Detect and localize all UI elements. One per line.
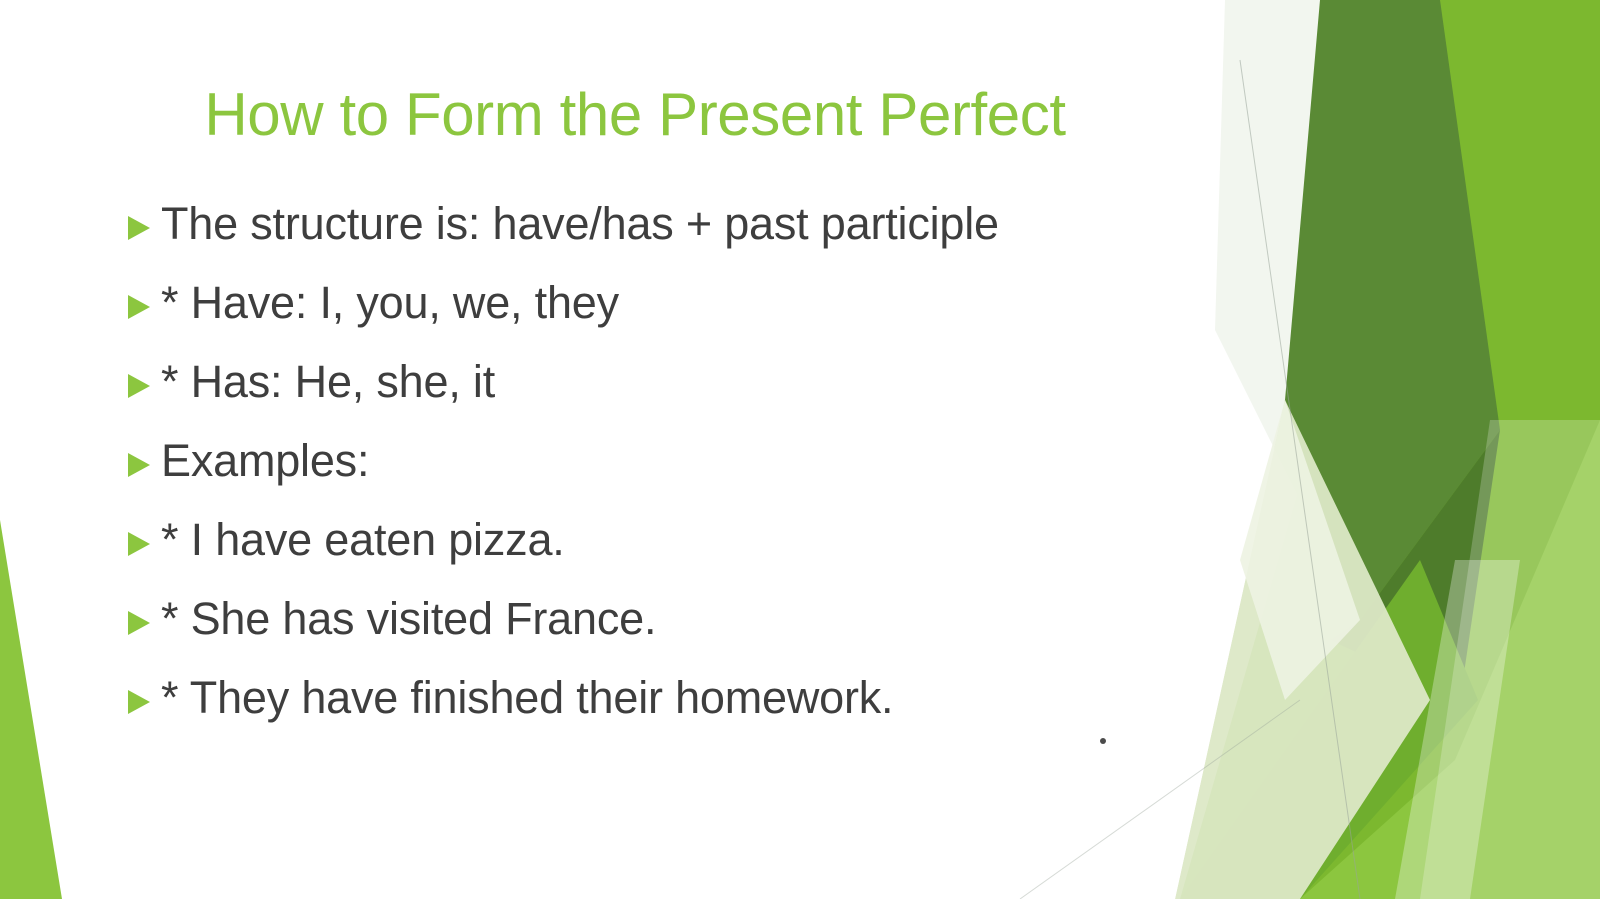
list-item: * She has visited France. bbox=[126, 593, 1216, 672]
list-item-label: * She has visited France. bbox=[161, 593, 1216, 645]
pale-overlay-shape-5 bbox=[1395, 560, 1520, 899]
triangle-bullet-icon bbox=[126, 214, 152, 242]
list-item: * They have finished their homework. bbox=[126, 672, 1216, 751]
right-lower-band-shape bbox=[1180, 560, 1478, 899]
pale-overlay-shape-2 bbox=[1420, 420, 1600, 899]
bullet-list: The structure is: have/has + past partic… bbox=[126, 198, 1216, 751]
slide-title: How to Form the Present Perfect bbox=[204, 82, 1065, 148]
triangle-bullet-icon bbox=[126, 451, 152, 479]
triangle-bullet-icon bbox=[126, 530, 152, 558]
pale-overlay-shape-4 bbox=[1240, 400, 1360, 700]
left-wedge-shape bbox=[0, 520, 62, 899]
list-item: Examples: bbox=[126, 435, 1216, 514]
list-item-label: The structure is: have/has + past partic… bbox=[161, 198, 1216, 250]
list-item-label: Examples: bbox=[161, 435, 1216, 487]
list-item: * Has: He, she, it bbox=[126, 356, 1216, 435]
triangle-bullet-icon bbox=[126, 293, 152, 321]
list-item: * Have: I, you, we, they bbox=[126, 277, 1216, 356]
right-deep-green-shape bbox=[1330, 430, 1500, 700]
list-item: * I have eaten pizza. bbox=[126, 514, 1216, 593]
hairline-1 bbox=[1240, 60, 1360, 899]
list-item-label: * Have: I, you, we, they bbox=[161, 277, 1216, 329]
triangle-bullet-icon bbox=[126, 609, 152, 637]
list-item-label: * They have finished their homework. bbox=[161, 672, 1216, 724]
slide-canvas: How to Form the Present Perfect The stru… bbox=[0, 0, 1600, 899]
list-item: The structure is: have/has + past partic… bbox=[126, 198, 1216, 277]
list-item-label: * I have eaten pizza. bbox=[161, 514, 1216, 566]
triangle-bullet-icon bbox=[126, 688, 152, 716]
title-container: How to Form the Present Perfect bbox=[0, 82, 1270, 148]
right-base-shape bbox=[1290, 0, 1600, 899]
triangle-bullet-icon bbox=[126, 372, 152, 400]
list-item-label: * Has: He, she, it bbox=[161, 356, 1216, 408]
